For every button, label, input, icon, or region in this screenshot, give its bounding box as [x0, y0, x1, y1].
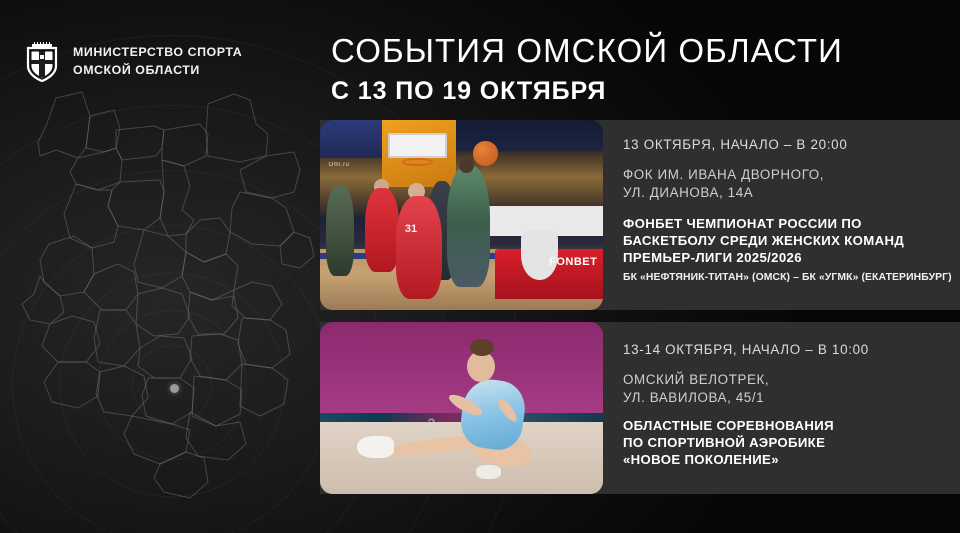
event-venue: ОМСКИЙ ВЕЛОТРЕК, УЛ. ВАВИЛОВА, 45/1	[623, 371, 950, 406]
page-title: СОБЫТИЯ ОМСКОЙ ОБЛАСТИ С 13 ПО 19 ОКТЯБР…	[331, 33, 843, 106]
event-photo-aerobics: 2	[320, 322, 603, 494]
photo-board-label: FONBET	[549, 256, 597, 268]
omsk-oblast-map	[0, 86, 344, 533]
event-teams: БК «НЕФТЯНИК-ТИТАН» (ОМСК) – БК «УГМК» (…	[623, 272, 952, 284]
floor-number-label: 2	[428, 415, 436, 431]
event-title: ФОНБЕТ ЧЕМПИОНАТ РОССИИ ПО БАСКЕТБОЛУ СР…	[623, 216, 952, 267]
event-title: ОБЛАСТНЫЕ СОРЕВНОВАНИЯ ПО СПОРТИВНОЙ АЭР…	[623, 418, 950, 469]
event-venue: ФОК ИМ. ИВАНА ДВОРНОГО, УЛ. ДИАНОВА, 14А	[623, 166, 952, 201]
event-date: 13-14 ОКТЯБРЯ, НАЧАЛО – В 10:00	[623, 342, 950, 357]
event-photo-basketball: 31 Omi.ru FONBET	[320, 120, 603, 310]
omsk-city-marker-icon	[170, 384, 179, 393]
ministry-name: МИНИСТЕРСТВО СПОРТА ОМСКОЙ ОБЛАСТИ	[73, 44, 242, 79]
event-card[interactable]: 31 Omi.ru FONBET 13 ОКТЯБРЯ, НАЧАЛО – В …	[320, 120, 960, 310]
poster-canvas: МИНИСТЕРСТВО СПОРТА ОМСКОЙ ОБЛАСТИ СОБЫТ…	[0, 0, 960, 533]
jersey-number: 31	[405, 223, 417, 235]
headline-main: СОБЫТИЯ ОМСКОЙ ОБЛАСТИ	[331, 33, 843, 70]
events-list: 31 Omi.ru FONBET 13 ОКТЯБРЯ, НАЧАЛО – В …	[320, 120, 960, 494]
photo-sponsor-label: Omi.ru	[328, 162, 349, 168]
event-info: 13 ОКТЯБРЯ, НАЧАЛО – В 20:00 ФОК ИМ. ИВА…	[603, 120, 960, 310]
event-date: 13 ОКТЯБРЯ, НАЧАЛО – В 20:00	[623, 137, 952, 152]
ministry-branding: МИНИСТЕРСТВО СПОРТА ОМСКОЙ ОБЛАСТИ	[24, 40, 242, 83]
event-info: 13-14 ОКТЯБРЯ, НАЧАЛО – В 10:00 ОМСКИЙ В…	[603, 322, 960, 494]
headline-subtitle: С 13 ПО 19 ОКТЯБРЯ	[331, 76, 843, 106]
omsk-coat-of-arms-icon	[24, 40, 60, 83]
event-card[interactable]: 2 13-14 ОКТЯБРЯ, НАЧАЛО – В 10:00 ОМСКИЙ…	[320, 322, 960, 494]
